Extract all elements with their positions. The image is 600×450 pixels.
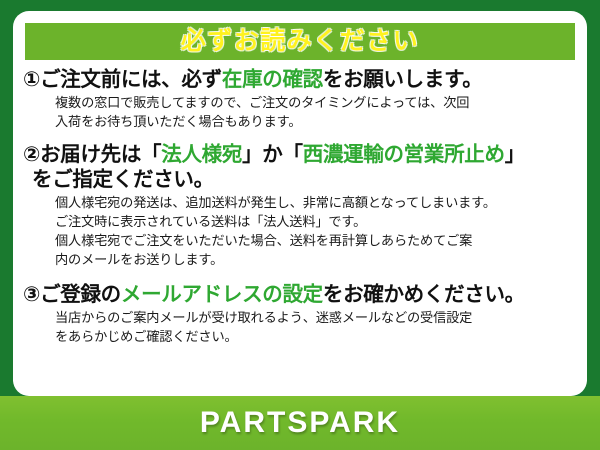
notice-item-3: ③ご登録のメールアドレスの設定をお確かめください。 当店からのご案内メールが受け… [23,282,579,346]
notice-item-1-body: 複数の窓口で販売してますので、ご注文のタイミングによっては、次回 入荷をお待ち頂… [23,94,579,131]
notice-item-3-body-line-1: 当店からのご案内メールが受け取れるよう、迷惑メールなどの受信設定 [55,309,579,328]
footer-logo-band: PARTSPARK [0,396,600,450]
notice-item-2-heading: ②お届け先は「法人様宛」か「西濃運輸の営業所止め」 [23,142,579,167]
notice-item-3-marker: ③ [23,283,40,306]
notice-item-2-body-line-1: 個人様宅宛の発送は、追加送料が発生し、非常に高額となってしまいます。 [55,194,579,213]
notice-item-3-heading-post: をお確かめください。 [323,283,525,306]
notice-item-2-marker: ② [23,143,40,166]
brand-logo: PARTSPARK [200,408,400,438]
notice-panel: 必ずお読みください ①ご注文前には、必ず在庫の確認をお願いします。 複数の窓口で… [13,11,587,396]
notice-item-3-heading-pre: ご登録の [40,283,121,306]
notice-item-2-heading-post: 」 [505,143,525,166]
notice-item-1-heading-accent: 在庫の確認 [222,68,323,91]
notice-item-1: ①ご注文前には、必ず在庫の確認をお願いします。 複数の窓口で販売してますので、ご… [23,67,579,131]
notice-item-list: ①ご注文前には、必ず在庫の確認をお願いします。 複数の窓口で販売してますので、ご… [13,67,587,351]
notice-item-2: ②お届け先は「法人様宛」か「西濃運輸の営業所止め」 をご指定ください。 個人様宅… [23,142,579,269]
notice-item-2-heading-accent: 法人様宛 [161,143,242,166]
notice-banner: 必ずお読みください ①ご注文前には、必ず在庫の確認をお願いします。 複数の窓口で… [0,0,600,450]
notice-item-1-body-line-2: 入荷をお待ち頂いただく場合もあります。 [55,113,579,132]
notice-item-3-body-line-2: をあらかじめご確認ください。 [55,328,579,347]
notice-item-2-heading-mid: 」か「 [242,143,303,166]
page-title: 必ずお読みください [181,29,420,54]
notice-item-2-heading-accent-2: 西濃運輸の営業所止め [303,143,505,166]
notice-item-1-heading-pre: ご注文前には、必ず [40,68,222,91]
notice-item-1-marker: ① [23,68,40,91]
notice-item-2-body-line-3: 個人様宅宛でご注文をいただいた場合、送料を再計算しあらためてご案 [55,232,579,251]
notice-item-1-heading-post: をお願いします。 [323,68,483,91]
notice-item-1-body-line-1: 複数の窓口で販売してますので、ご注文のタイミングによっては、次回 [55,94,579,113]
notice-item-1-heading: ①ご注文前には、必ず在庫の確認をお願いします。 [23,67,579,92]
notice-item-3-heading-accent: メールアドレスの設定 [121,283,323,306]
notice-item-2-body: 個人様宅宛の発送は、追加送料が発生し、非常に高額となってしまいます。 ご注文時に… [23,194,579,269]
notice-item-2-body-line-2: ご注文時に表示されている送料は「法人送料」です。 [55,213,579,232]
notice-item-3-body: 当店からのご案内メールが受け取れるよう、迷惑メールなどの受信設定 をあらかじめご… [23,309,579,346]
notice-item-2-heading-pre: お届け先は「 [40,143,161,166]
notice-item-2-heading-line-2: をご指定ください。 [23,167,579,192]
notice-item-2-body-line-4: 内のメールをお送りします。 [55,251,579,270]
notice-title-band: 必ずお読みください [25,23,575,60]
notice-item-3-heading: ③ご登録のメールアドレスの設定をお確かめください。 [23,282,579,307]
